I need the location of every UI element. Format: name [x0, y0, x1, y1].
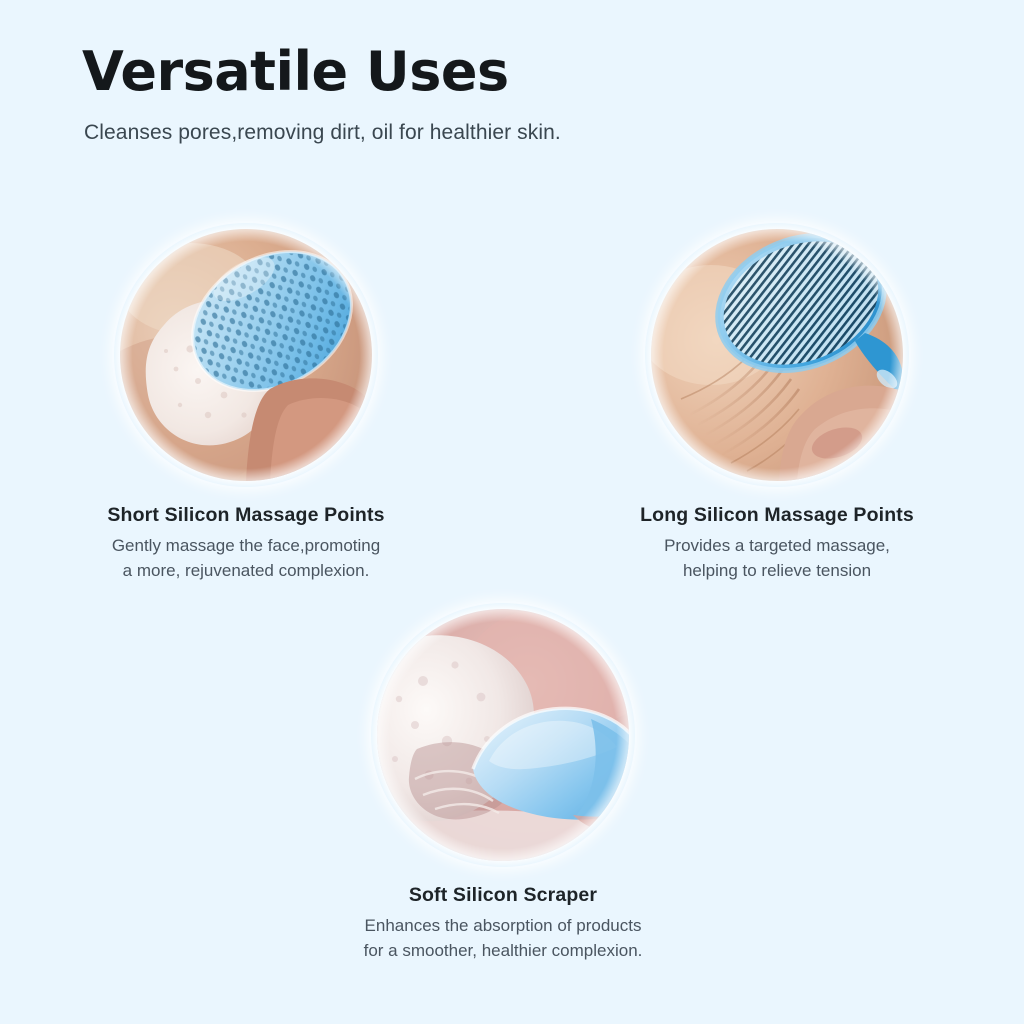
feature-image-short-nubs	[120, 229, 372, 481]
feature-description-line: Provides a targeted massage,	[597, 534, 957, 558]
feature-heading: Long Silicon Massage Points	[577, 503, 977, 527]
feature-description: Enhances the absorption of products for …	[323, 914, 683, 962]
infographic-page: Versatile Uses Cleanses pores,removing d…	[0, 0, 1024, 1024]
long-bristles-illustration	[651, 229, 903, 481]
header: Versatile Uses Cleanses pores,removing d…	[82, 44, 942, 146]
feature-description-line: helping to relieve tension	[597, 559, 957, 583]
feature-image-long-bristles	[651, 229, 903, 481]
feature-card-soft-silicon-scraper: Soft Silicon Scraper Enhances the absorp…	[303, 609, 703, 963]
feature-heading: Short Silicon Massage Points	[46, 503, 446, 527]
short-nubs-illustration	[120, 229, 372, 481]
feature-description: Gently massage the face,promoting a more…	[66, 534, 426, 582]
feature-description-line: a more, rejuvenated complexion.	[66, 559, 426, 583]
feature-heading: Soft Silicon Scraper	[303, 883, 703, 907]
feature-image-scraper	[377, 609, 629, 861]
feature-card-short-silicon-massage-points: Short Silicon Massage Points Gently mass…	[46, 229, 446, 583]
scraper-illustration	[377, 609, 629, 861]
feature-description-line: for a smoother, healthier complexion.	[323, 939, 683, 963]
circular-photo	[651, 229, 903, 481]
circular-photo	[120, 229, 372, 481]
circular-photo	[377, 609, 629, 861]
page-title: Versatile Uses	[82, 44, 942, 101]
feature-description-line: Gently massage the face,promoting	[66, 534, 426, 558]
page-subtitle: Cleanses pores,removing dirt, oil for he…	[84, 119, 942, 146]
feature-description: Provides a targeted massage, helping to …	[597, 534, 957, 582]
feature-description-line: Enhances the absorption of products	[323, 914, 683, 938]
feature-card-long-silicon-massage-points: Long Silicon Massage Points Provides a t…	[577, 229, 977, 583]
